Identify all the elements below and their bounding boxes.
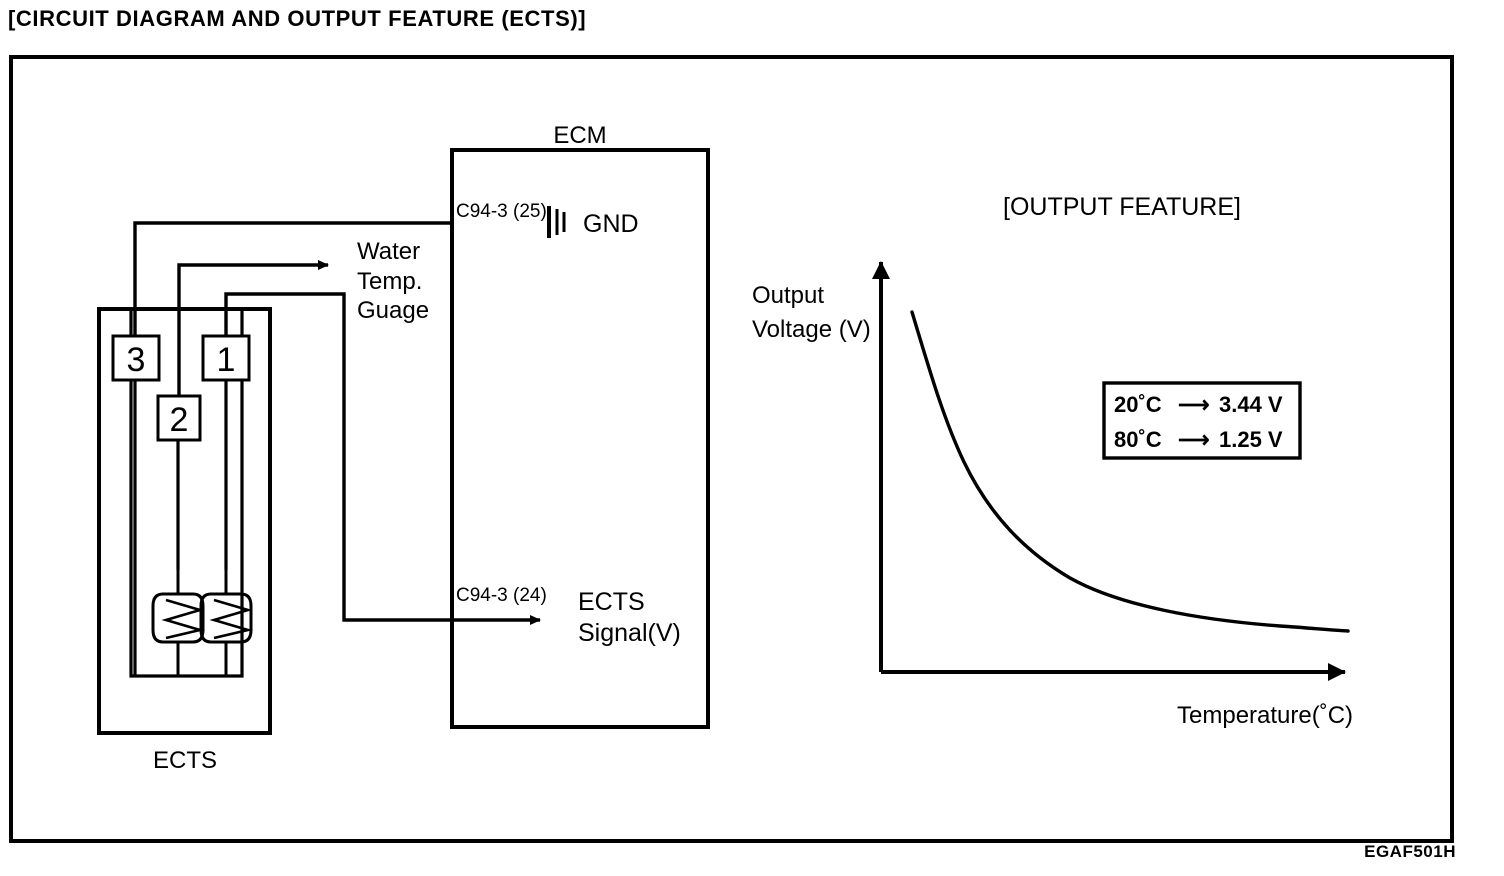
output-feature-heading: [OUTPUT FEATURE] (1003, 193, 1241, 221)
pin-ects-signal-label-line2: Signal(V) (578, 619, 681, 647)
terminal-3[interactable]: 3 (113, 336, 159, 380)
document-code: EGAF501H (1364, 842, 1456, 862)
y-axis-label-line1: Output (752, 282, 824, 309)
terminal-3-label: 3 (127, 341, 146, 379)
callout-row-20c: 20˚C ⟶ 3.44 V (1114, 392, 1283, 417)
ground-symbol-icon (549, 206, 564, 238)
terminal-2-label: 2 (170, 401, 189, 439)
callout-voltage-80c: 1.25 V (1219, 427, 1283, 452)
pin-ects-connector-label: C94-3 (24) (456, 585, 547, 606)
wire-ects-signal-harness (226, 294, 540, 620)
callout-row-80c: 80˚C ⟶ 1.25 V (1114, 427, 1283, 452)
pin-gnd-connector-label: C94-3 (25) (456, 201, 547, 222)
terminal-2[interactable]: 2 (158, 396, 200, 440)
pin-ects-signal-label-line1: ECTS (578, 588, 645, 616)
callout-voltage-20c: 3.44 V (1219, 392, 1283, 417)
output-voltage-curve (912, 312, 1348, 631)
water-temp-gauge-label-line3: Guage (357, 297, 429, 324)
water-temp-gauge-label-line1: Water (357, 238, 420, 265)
thermistor-left (153, 570, 203, 676)
y-axis-label-line2: Voltage (V) (752, 316, 871, 343)
callout-arrow-80c: ⟶ (1178, 427, 1210, 452)
pin-gnd-signal-label: GND (583, 210, 639, 238)
x-axis-label: Temperature(˚C) (1177, 702, 1353, 729)
callout-temp-20c: 20˚C (1114, 392, 1162, 417)
wire-water-temp-gauge (179, 265, 328, 396)
diagram-page: [CIRCUIT DIAGRAM AND OUTPUT FEATURE (ECT… (0, 0, 1504, 876)
callout-temp-80c: 80˚C (1114, 427, 1162, 452)
circuit-diagram-canvas: 3 1 2 ECTS ECM C94-3 (25) GND Water Temp… (0, 0, 1504, 876)
ects-label: ECTS (153, 747, 217, 774)
terminal-1[interactable]: 1 (203, 336, 249, 380)
terminal-1-label: 1 (217, 341, 236, 379)
callout-arrow-20c: ⟶ (1178, 392, 1210, 417)
water-temp-gauge-label-line2: Temp. (357, 268, 422, 295)
ecm-label: ECM (553, 122, 606, 149)
